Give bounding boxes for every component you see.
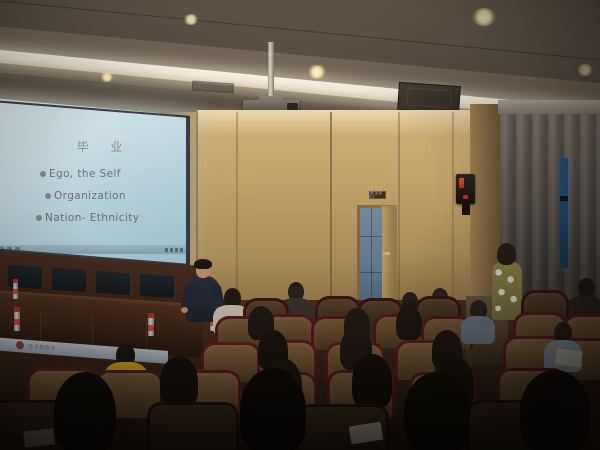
wall-panel-seam <box>330 112 332 310</box>
lecture-hall-photo: 安全出口 毕 业 Ego, the Self Organization Nati… <box>0 0 600 450</box>
handout-paper <box>23 428 55 447</box>
tray-icon <box>180 248 183 252</box>
bottle-cap <box>14 307 20 312</box>
head-table-monitor <box>52 268 86 292</box>
banner-logo-icon <box>16 341 24 350</box>
bullet-dot-icon <box>36 215 42 221</box>
projector-mount-pole <box>268 42 274 104</box>
slide-bullet-list: Ego, the Self Organization Nation- Ethni… <box>40 168 178 224</box>
bullet-dot-icon <box>45 193 51 199</box>
door-handle[interactable] <box>383 252 390 255</box>
audience-hair <box>520 370 590 450</box>
presenter-hand <box>181 307 188 313</box>
wood-wall-panels <box>196 110 504 310</box>
standing-attendee-hair <box>497 243 516 265</box>
audience-hair <box>404 372 470 450</box>
taskbar-system-tray <box>165 248 183 252</box>
tray-icon <box>170 248 173 252</box>
standing-attendee-coat <box>492 262 522 320</box>
audience-hair <box>54 372 116 450</box>
bullet-dot-icon <box>40 171 46 177</box>
door-leaf[interactable] <box>382 206 396 310</box>
auditorium-seat <box>150 404 236 450</box>
head-table-monitor <box>140 274 174 298</box>
wall-light-glow <box>196 110 504 136</box>
audience-hair <box>352 354 392 408</box>
wall-panel-seam <box>398 112 400 310</box>
alarm-button[interactable] <box>463 195 468 199</box>
tray-icon <box>175 248 178 252</box>
slide-bullet-text: Nation- Ethnicity <box>45 212 139 224</box>
ceiling-downlight <box>307 65 327 79</box>
handout-paper <box>555 348 583 367</box>
slide-bullet-item: Ego, the Self <box>40 168 178 180</box>
water-bottle <box>13 282 18 299</box>
water-bottle <box>148 317 154 336</box>
alarm-indicator-icon <box>459 178 464 188</box>
table-panel-seam <box>40 312 41 344</box>
audience-hair <box>160 356 198 408</box>
slide-bullet-item: Organization <box>45 190 178 202</box>
table-panel-seam <box>92 316 93 348</box>
audience-torso <box>461 316 495 344</box>
table-panel-seam <box>146 320 147 352</box>
ceiling-downlight <box>576 64 594 76</box>
slide-bullet-text: Ego, the Self <box>49 168 121 180</box>
slide-bullet-item: Nation- Ethnicity <box>36 212 178 224</box>
wall-panel-seam <box>452 112 454 310</box>
audience-hair <box>240 368 306 450</box>
presenter-glasses <box>197 268 209 271</box>
ceiling-downlight <box>100 72 114 82</box>
alarm-mount-stem <box>462 204 470 215</box>
slide-title: 毕 业 <box>30 138 178 155</box>
projection-screen: 毕 业 Ego, the Self Organization Nation- E… <box>0 102 186 263</box>
tray-icon <box>165 248 168 252</box>
curtain-rail <box>498 100 600 114</box>
water-bottle <box>14 311 20 331</box>
bottle-cap <box>148 313 154 318</box>
bottle-cap <box>13 279 18 283</box>
ceiling-downlight <box>183 14 199 25</box>
exit-sign: 安全出口 <box>369 191 386 199</box>
ceiling-downlight <box>471 8 497 26</box>
exit-sign-label: 安全出口 <box>370 191 385 199</box>
head-table-monitor <box>96 271 130 295</box>
wall-panel-seam <box>236 112 238 310</box>
door-mullion <box>371 208 372 310</box>
audience-hair <box>396 306 422 340</box>
presentation-slide: 毕 业 Ego, the Self Organization Nation- E… <box>0 114 186 260</box>
slide-bullet-text: Organization <box>54 190 126 202</box>
banner-text: 学术报告厅 <box>28 343 56 352</box>
